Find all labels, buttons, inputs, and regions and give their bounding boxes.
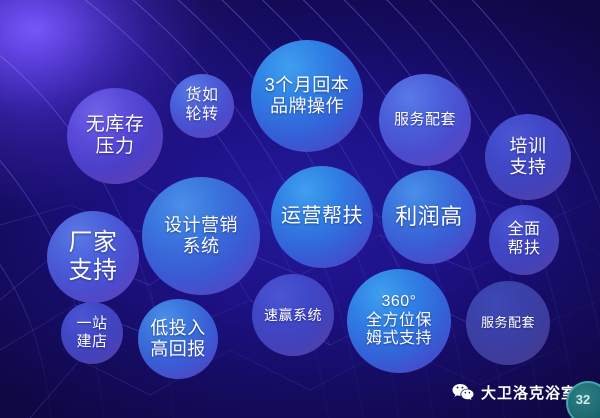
wechat-icon — [452, 383, 474, 402]
bubble-operation-support[interactable]: 运营帮扶 — [271, 166, 373, 268]
bubble-service-package-bottom[interactable]: 服务配套 — [466, 281, 550, 365]
bubble-no-inventory-pressure[interactable]: 无库存 压力 — [67, 88, 163, 184]
bubble-service-package-top[interactable]: 服务配套 — [379, 74, 471, 166]
bubble-label: 设计营销 系统 — [160, 215, 242, 257]
bubble-label: 低投入 高回报 — [146, 318, 210, 360]
bubble-label: 厂家 支持 — [65, 229, 122, 286]
poster-canvas: 无库存 压力货如 轮转3个月回本 品牌操作服务配套培训 支持设计营销 系统运营帮… — [0, 0, 600, 418]
bubble-training-support[interactable]: 培训 支持 — [485, 114, 571, 200]
bubble-label: 无库存 压力 — [82, 114, 149, 159]
bubble-label: 服务配套 — [390, 111, 460, 129]
bubble-quick-win-system[interactable]: 速赢系统 — [252, 274, 334, 356]
bubble-design-marketing[interactable]: 设计营销 系统 — [142, 177, 260, 295]
bubble-label: 服务配套 — [477, 315, 539, 330]
corner-badge-text: 32 — [576, 392, 590, 407]
bubble-label: 货如 轮转 — [181, 87, 222, 125]
bubble-label: 一站 建店 — [72, 315, 111, 350]
bubble-comprehensive-support[interactable]: 全面 帮扶 — [489, 205, 559, 275]
bubble-label: 360° 全方位保 姆式支持 — [362, 293, 436, 350]
bubble-360-full-support[interactable]: 360° 全方位保 姆式支持 — [347, 269, 451, 373]
bubble-label: 速赢系统 — [260, 307, 326, 324]
bubble-label: 培训 支持 — [506, 136, 551, 178]
bubble-three-month-payback[interactable]: 3个月回本 品牌操作 — [251, 40, 363, 152]
bubble-factory-support[interactable]: 厂家 支持 — [47, 211, 139, 303]
bubble-fast-turnover[interactable]: 货如 轮转 — [170, 74, 234, 138]
bubble-label: 3个月回本 品牌操作 — [261, 75, 354, 117]
bubble-label: 运营帮扶 — [277, 205, 367, 229]
bubble-label: 全面 帮扶 — [503, 221, 544, 259]
bubble-one-stop-store[interactable]: 一站 建店 — [61, 302, 123, 364]
bubble-low-invest-high-return[interactable]: 低投入 高回报 — [138, 299, 218, 379]
bubble-high-profit[interactable]: 利润高 — [382, 170, 476, 264]
bubble-label: 利润高 — [391, 204, 467, 230]
